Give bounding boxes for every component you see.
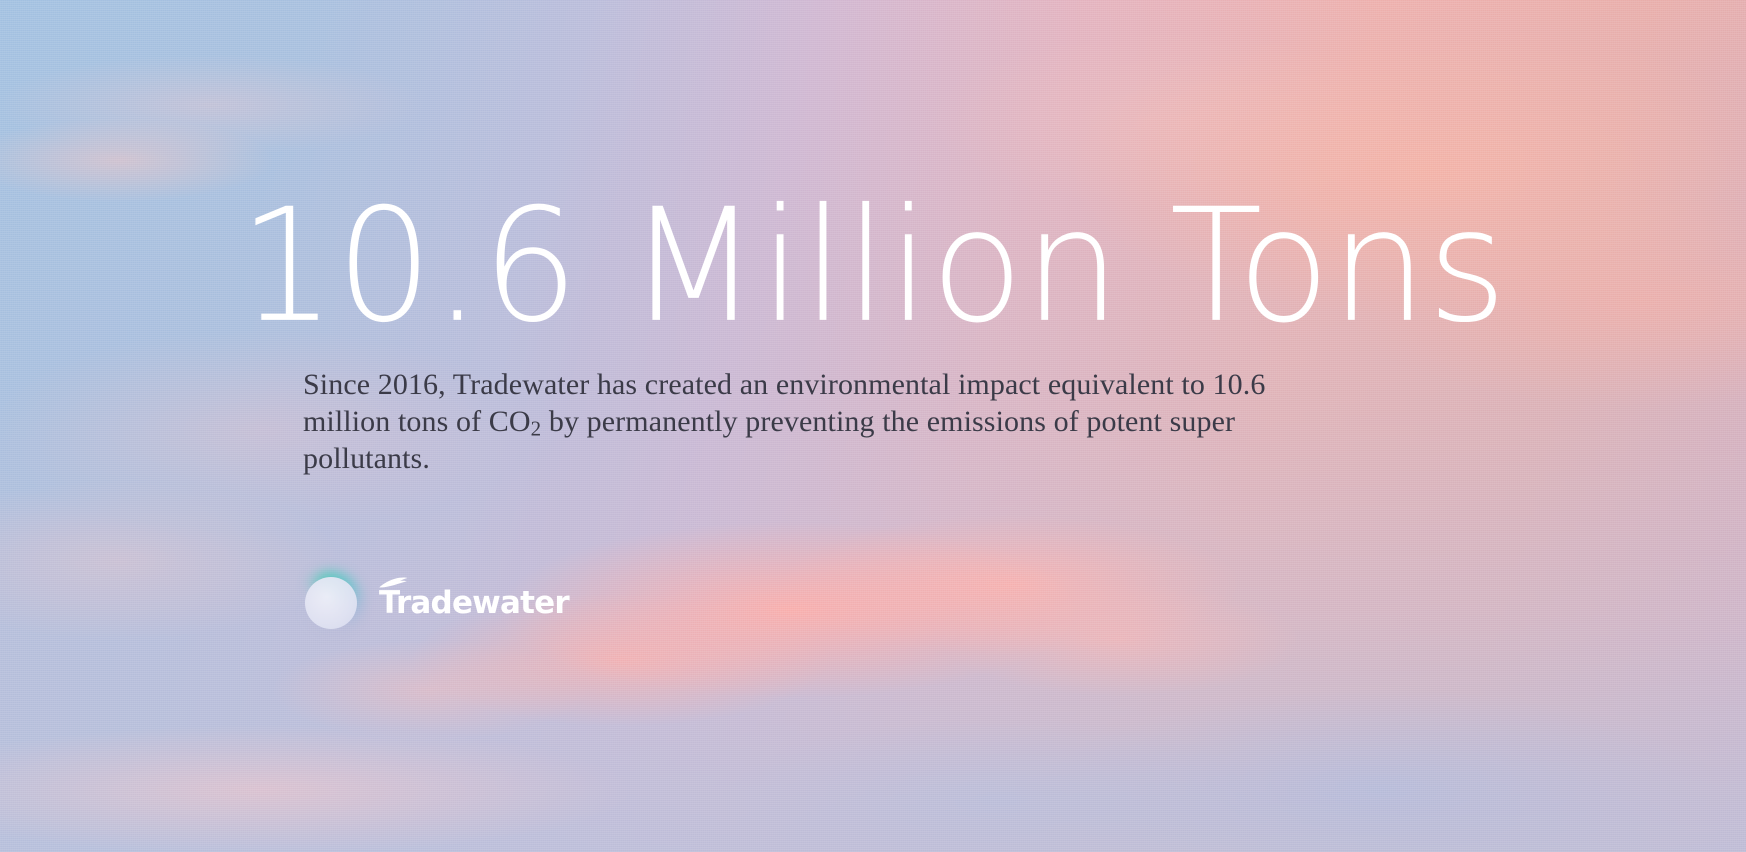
circle-glow-icon [305,577,357,629]
hero-content: 10.6 Million Tons Since 2016, Tradewater… [0,0,1746,852]
hero-description-line-2-b: by permanently preventing the emissions … [541,405,1079,438]
co2-subscript: 2 [531,417,542,441]
hero-description-line-1: Since 2016, Tradewater has created an en… [303,368,1174,401]
logo-wordmark-text: Tradewater [379,585,569,621]
logo-wordmark: Tradewater [377,588,569,619]
tradewater-logo[interactable]: Tradewater [305,572,569,634]
hero-description: Since 2016, Tradewater has created an en… [303,366,1278,477]
hero-section: 10.6 Million Tons Since 2016, Tradewater… [0,0,1746,852]
page-title: 10.6 Million Tons [0,188,1746,345]
